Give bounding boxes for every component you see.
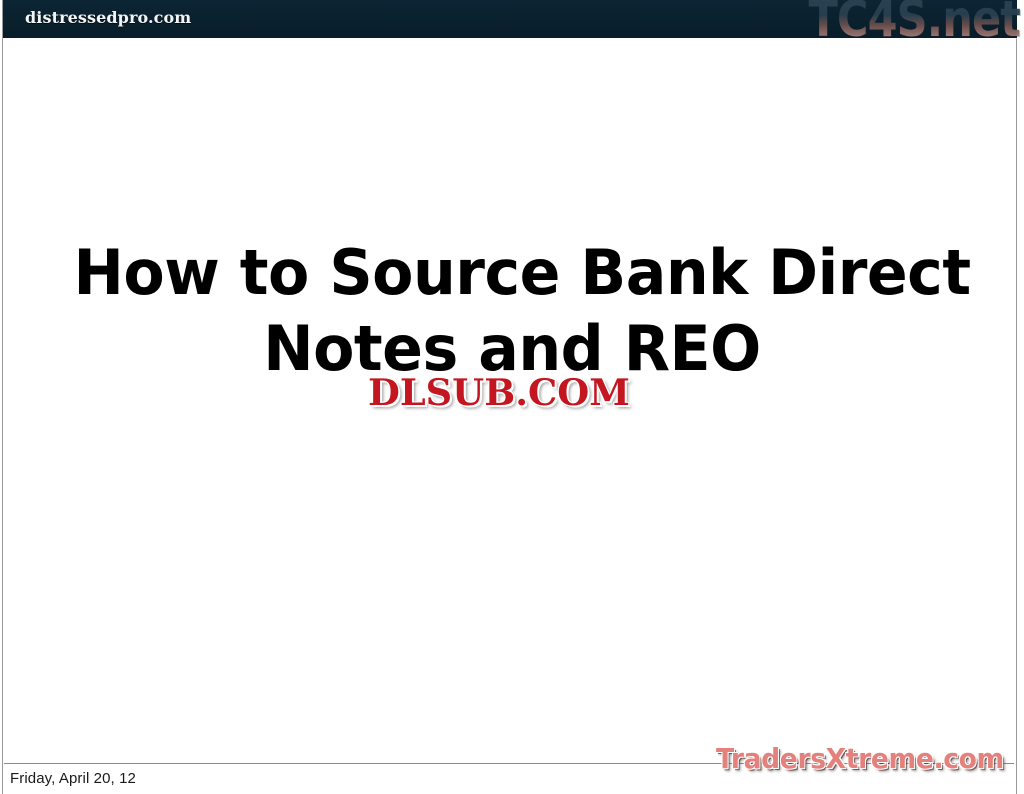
slide-title-block: How to Source Bank Direct Notes and REO [60, 235, 964, 387]
watermark-tc4s: TC4S.net [808, 0, 1020, 44]
header-site-name: distressedpro.com [25, 8, 191, 27]
watermark-tradersxtreme: TradersXtreme.com [716, 744, 1004, 774]
footer-date: Friday, April 20, 12 [10, 770, 136, 787]
slide-title-line-1: How to Source Bank Direct [74, 235, 951, 311]
presentation-slide: distressedpro.com TC4S.net TC4S.net How … [0, 0, 1024, 794]
watermark-dlsub: DLSUB.COM [368, 374, 630, 412]
page-border-right [1016, 0, 1017, 794]
page-border-left [2, 0, 3, 794]
